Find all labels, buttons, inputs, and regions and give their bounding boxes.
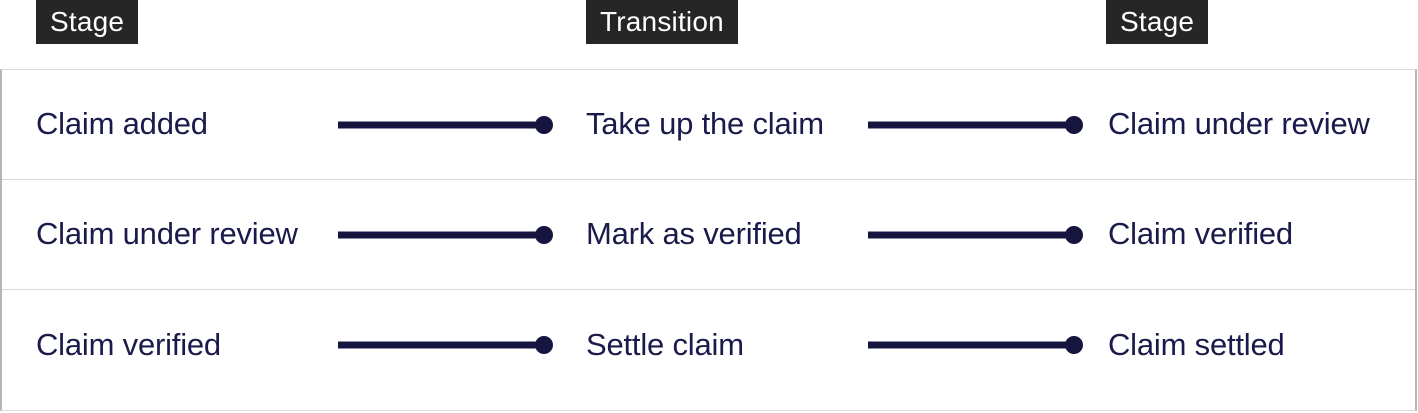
transitions-table: Claim added Take up the claim Claim unde…	[0, 69, 1417, 411]
cell-arrow-transition-to-stage	[868, 290, 1108, 400]
arrow-line-dot-icon	[338, 224, 553, 246]
cell-arrow-transition-to-stage	[868, 180, 1108, 289]
cell-arrow-from-to-transition	[338, 180, 586, 289]
table-row: Claim under review Mark as verified Clai…	[2, 180, 1415, 290]
arrow-line-dot-icon	[868, 224, 1083, 246]
stage-to-label: Claim settled	[1108, 328, 1285, 362]
cell-arrow-transition-to-stage	[868, 70, 1108, 179]
cell-arrow-from-to-transition	[338, 290, 586, 400]
cell-stage-from: Claim verified	[2, 290, 338, 400]
column-header-stage-from: Stage	[36, 0, 138, 44]
column-headers: Stage Transition Stage	[0, 0, 1418, 69]
arrow-line-dot-icon	[868, 114, 1083, 136]
arrow-line-dot-icon	[338, 114, 553, 136]
cell-stage-to: Claim settled	[1108, 290, 1415, 400]
column-header-transition: Transition	[586, 0, 738, 44]
cell-transition: Mark as verified	[586, 180, 868, 289]
transition-label: Mark as verified	[586, 217, 802, 251]
stage-transition-diagram: Stage Transition Stage Claim added Take …	[0, 0, 1418, 413]
transition-label: Take up the claim	[586, 107, 824, 141]
stage-from-label: Claim verified	[36, 328, 221, 362]
column-header-stage-to: Stage	[1106, 0, 1208, 44]
cell-stage-from: Claim under review	[2, 180, 338, 289]
cell-stage-to: Claim verified	[1108, 180, 1415, 289]
arrow-line-dot-icon	[868, 334, 1083, 356]
table-row: Claim added Take up the claim Claim unde…	[2, 70, 1415, 180]
cell-stage-to: Claim under review	[1108, 70, 1415, 179]
stage-from-label: Claim under review	[36, 217, 298, 251]
cell-stage-from: Claim added	[2, 70, 338, 179]
cell-arrow-from-to-transition	[338, 70, 586, 179]
arrow-line-dot-icon	[338, 334, 553, 356]
stage-to-label: Claim under review	[1108, 107, 1370, 141]
transition-label: Settle claim	[586, 328, 744, 362]
cell-transition: Take up the claim	[586, 70, 868, 179]
table-row: Claim verified Settle claim Claim settle…	[2, 290, 1415, 400]
stage-from-label: Claim added	[36, 107, 208, 141]
cell-transition: Settle claim	[586, 290, 868, 400]
stage-to-label: Claim verified	[1108, 217, 1293, 251]
